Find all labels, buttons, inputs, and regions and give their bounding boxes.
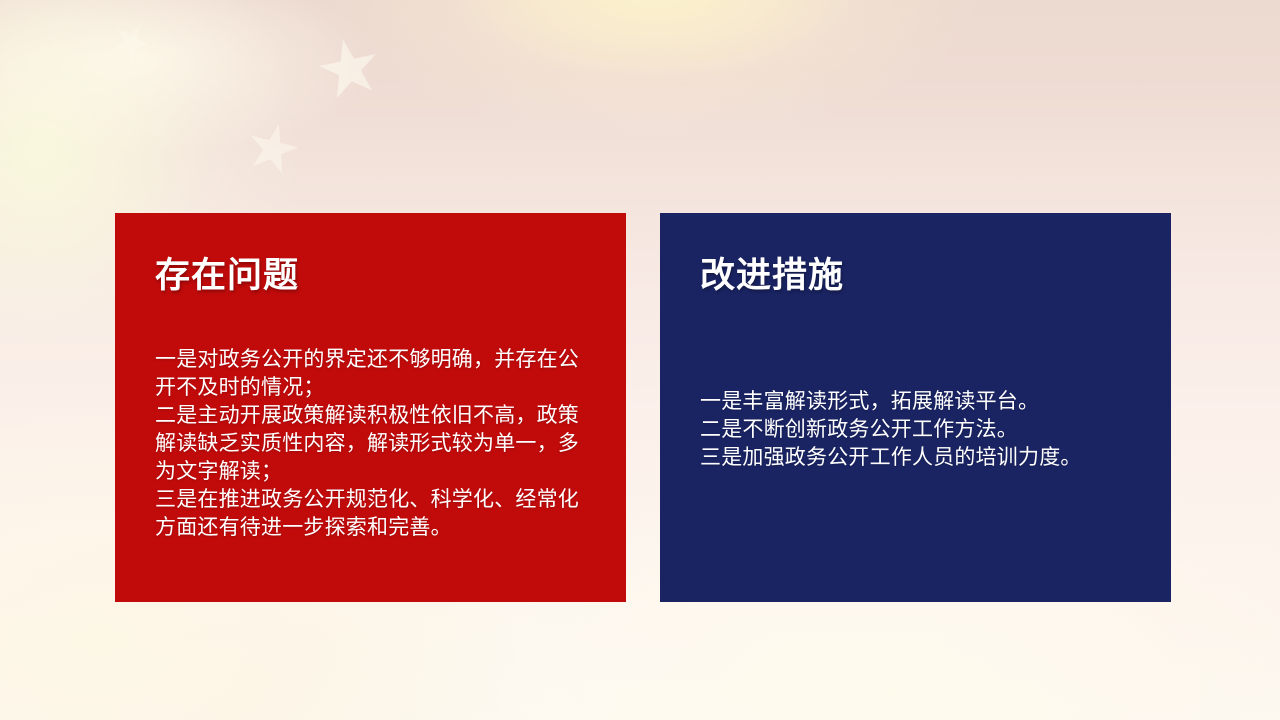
panel-body-improvement-measures: 一是丰富解读形式，拓展解读平台。 二是不断创新政务公开工作方法。 三是加强政务公… [700,388,1145,472]
panel-improvement-measures: 改进措施 一是丰富解读形式，拓展解读平台。 二是不断创新政务公开工作方法。 三是… [660,213,1171,602]
panel-existing-problems: 存在问题 一是对政务公开的界定还不够明确，并存在公开不及时的情况； 二是主动开展… [115,213,626,602]
panel-title-existing-problems: 存在问题 [155,257,299,296]
slide-canvas: 存在问题 一是对政务公开的界定还不够明确，并存在公开不及时的情况； 二是主动开展… [0,0,1280,720]
panel-title-improvement-measures: 改进措施 [700,257,844,296]
panel-body-existing-problems: 一是对政务公开的界定还不够明确，并存在公开不及时的情况； 二是主动开展政策解读积… [155,346,595,542]
